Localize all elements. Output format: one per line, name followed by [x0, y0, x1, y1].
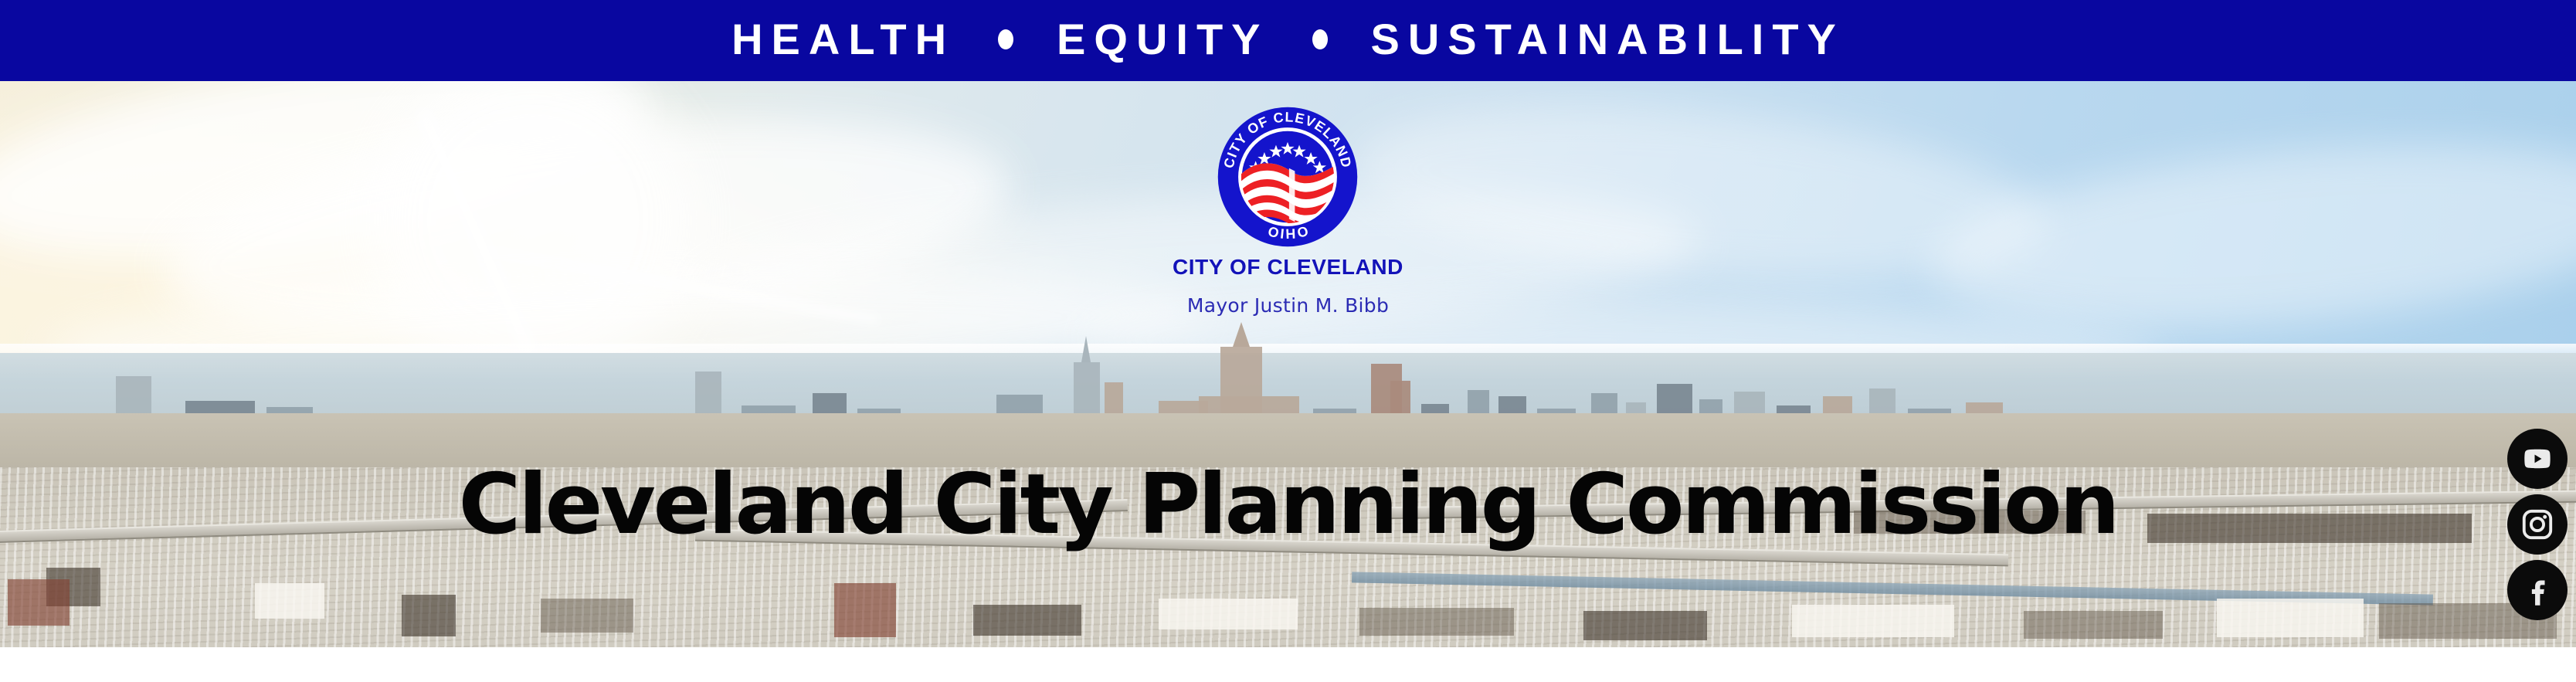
banner-separator-dot-1: [998, 29, 1013, 49]
facebook-icon: [2520, 573, 2554, 607]
banner-word-sustainability: SUSTAINABILITY: [1371, 18, 1845, 61]
social-link-youtube[interactable]: [2507, 429, 2568, 489]
social-link-instagram[interactable]: [2507, 494, 2568, 555]
hero-photo: CITY OF CLEVELAND OHIO CITY OF CLEVELAND…: [0, 81, 2576, 647]
city-seal: CITY OF CLEVELAND OHIO: [1215, 104, 1360, 249]
banner-inner: HEALTH EQUITY SUSTAINABILITY: [731, 18, 1845, 61]
mayor-name-label: Mayor Justin M. Bibb: [0, 294, 2576, 317]
banner-word-health: HEALTH: [731, 18, 955, 61]
instagram-icon: [2520, 507, 2554, 541]
youtube-icon: [2520, 442, 2554, 476]
page-root: HEALTH EQUITY SUSTAINABILITY: [0, 0, 2576, 682]
page-title: Cleveland City Planning Commission: [0, 463, 2576, 547]
city-name-label: CITY OF CLEVELAND: [0, 255, 2576, 280]
bottom-white-strip: [0, 647, 2576, 682]
banner-word-equity: EQUITY: [1057, 18, 1268, 61]
social-links: [2505, 429, 2570, 620]
top-banner: HEALTH EQUITY SUSTAINABILITY: [0, 0, 2576, 81]
banner-separator-dot-2: [1312, 29, 1328, 49]
social-link-facebook[interactable]: [2507, 560, 2568, 620]
